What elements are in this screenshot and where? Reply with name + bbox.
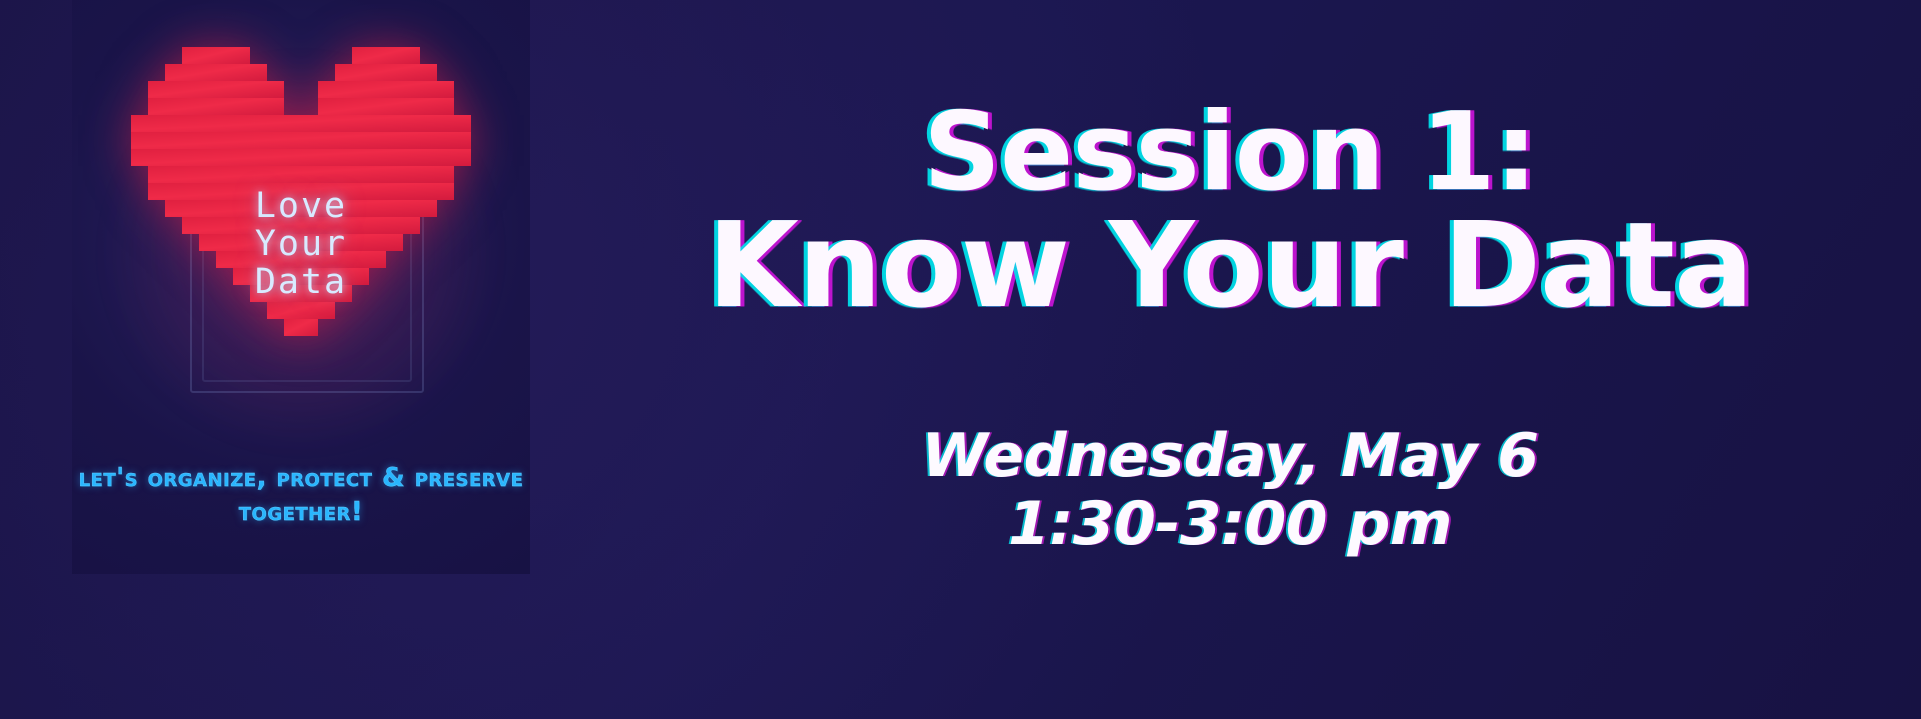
session-date: Wednesday, May 6	[560, 422, 1900, 490]
session-banner: Love Your Data Let's Organize, Protect &…	[0, 0, 1921, 719]
logo-tagline-line-1: Let's Organize, Protect & Preserve	[72, 462, 530, 496]
session-time: 1:30-3:00 pm	[560, 490, 1900, 558]
love-your-data-logo-panel: Love Your Data Let's Organize, Protect &…	[72, 0, 530, 574]
session-title: Session 1: Know Your Data	[560, 100, 1900, 324]
session-title-line-2: Know Your Data	[560, 207, 1900, 324]
session-title-line-1: Session 1:	[560, 100, 1900, 207]
pixel-heart-icon	[131, 41, 471, 359]
logo-tagline-line-2: Together!	[72, 496, 530, 530]
session-schedule: Wednesday, May 6 1:30-3:00 pm	[560, 422, 1900, 559]
logo-tagline: Let's Organize, Protect & Preserve Toget…	[72, 462, 530, 530]
